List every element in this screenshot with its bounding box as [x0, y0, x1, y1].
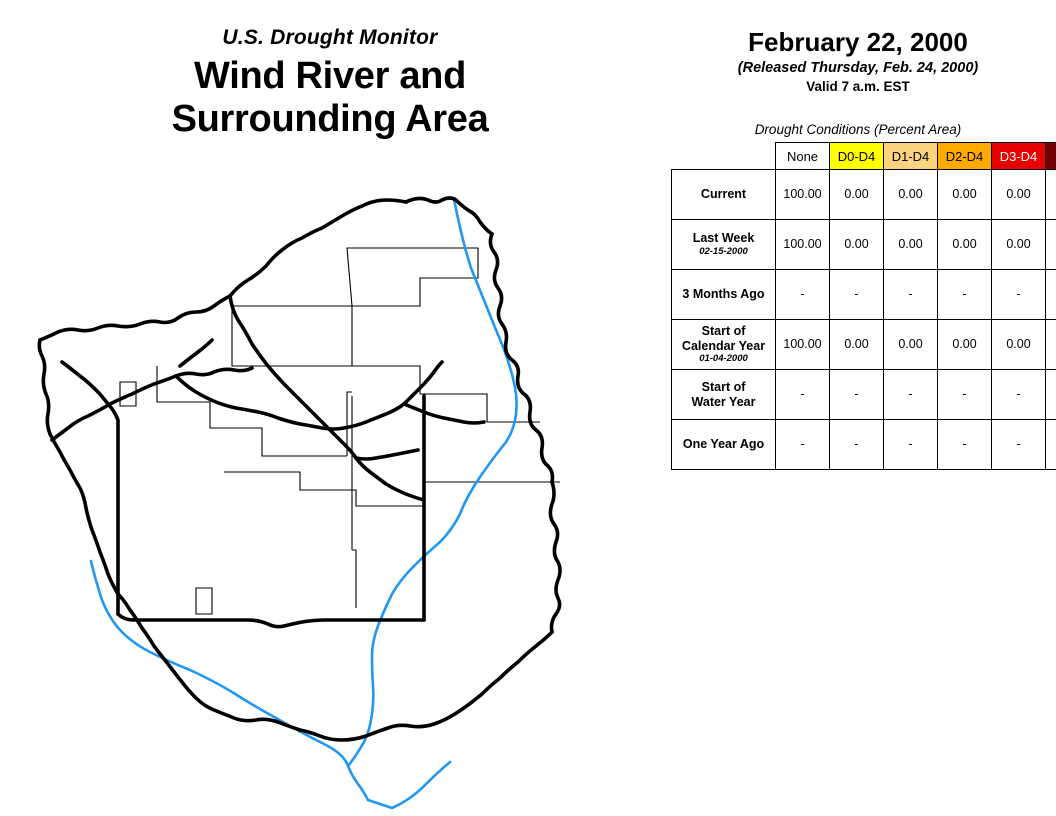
- cell-wy-d2d4: -: [938, 370, 992, 420]
- row-label-text: 3 Months Ago: [682, 287, 764, 301]
- cell-caly-d0d4: 0.00: [830, 320, 884, 370]
- cell-3mo-d4: -: [1046, 270, 1056, 320]
- drought-conditions-table: None D0-D4 D1-D4 D2-D4 D3-D4 D4 Current …: [671, 142, 1056, 470]
- release-date: (Released Thursday, Feb. 24, 2000): [660, 60, 1056, 76]
- page-title-line1: Wind River and: [0, 55, 660, 98]
- col-header-d0d4: D0-D4: [830, 143, 884, 170]
- map-background: [0, 170, 660, 816]
- cell-lastweek-d1d4: 0.00: [884, 220, 938, 270]
- row-label-text-l2: Calendar Year: [682, 339, 765, 353]
- row-label-date: 01-04-2000: [675, 354, 772, 365]
- valid-date: February 22, 2000: [660, 28, 1056, 57]
- cell-wy-d1d4: -: [884, 370, 938, 420]
- date-block: February 22, 2000 (Released Thursday, Fe…: [660, 28, 1056, 94]
- row-label-text-l1: Start of: [702, 380, 746, 394]
- cell-wy-none: -: [776, 370, 830, 420]
- row-label-current: Current: [672, 170, 776, 220]
- table-caption: Drought Conditions (Percent Area): [660, 122, 1056, 137]
- cell-wy-d0d4: -: [830, 370, 884, 420]
- map-svg: [0, 170, 660, 816]
- info-panel: February 22, 2000 (Released Thursday, Fe…: [660, 0, 1056, 816]
- cell-1yr-d3d4: -: [992, 420, 1046, 470]
- col-header-d2d4: D2-D4: [938, 143, 992, 170]
- cell-lastweek-d0d4: 0.00: [830, 220, 884, 270]
- table-row: Last Week 02-15-2000 100.00 0.00 0.00 0.…: [672, 220, 1056, 270]
- table-row: 3 Months Ago - - - - - -: [672, 270, 1056, 320]
- cell-current-d2d4: 0.00: [938, 170, 992, 220]
- col-header-d1d4: D1-D4: [884, 143, 938, 170]
- cell-current-d1d4: 0.00: [884, 170, 938, 220]
- table-row: Start of Calendar Year 01-04-2000 100.00…: [672, 320, 1056, 370]
- row-label-text-l1: Start of: [702, 324, 746, 338]
- col-header-d3d4: D3-D4: [992, 143, 1046, 170]
- cell-lastweek-d3d4: 0.00: [992, 220, 1046, 270]
- table-row: One Year Ago - - - - - -: [672, 420, 1056, 470]
- cell-3mo-none: -: [776, 270, 830, 320]
- cell-1yr-d1d4: -: [884, 420, 938, 470]
- row-label-date: 02-15-2000: [675, 247, 772, 258]
- cell-1yr-d4: -: [1046, 420, 1056, 470]
- row-label-text: One Year Ago: [683, 437, 764, 451]
- map-panel: U.S. Drought Monitor Wind River and Surr…: [0, 0, 660, 816]
- cell-caly-d3d4: 0.00: [992, 320, 1046, 370]
- cell-caly-none: 100.00: [776, 320, 830, 370]
- cell-current-d3d4: 0.00: [992, 170, 1046, 220]
- cell-3mo-d2d4: -: [938, 270, 992, 320]
- page-title: Wind River and Surrounding Area: [0, 55, 660, 140]
- cell-3mo-d3d4: -: [992, 270, 1046, 320]
- title-block: U.S. Drought Monitor Wind River and Surr…: [0, 26, 660, 140]
- col-header-none: None: [776, 143, 830, 170]
- drought-map[interactable]: [0, 170, 660, 816]
- cell-1yr-d0d4: -: [830, 420, 884, 470]
- row-label-text-l2: Water Year: [692, 395, 756, 409]
- cell-lastweek-d4: 0.00: [1046, 220, 1056, 270]
- cell-current-d4: 0.00: [1046, 170, 1056, 220]
- cell-1yr-none: -: [776, 420, 830, 470]
- valid-time: Valid 7 a.m. EST: [660, 79, 1056, 94]
- table-body: Current 100.00 0.00 0.00 0.00 0.00 0.00 …: [672, 170, 1056, 470]
- row-label-text: Last Week: [693, 231, 755, 245]
- row-label-3-months-ago: 3 Months Ago: [672, 270, 776, 320]
- row-label-last-week: Last Week 02-15-2000: [672, 220, 776, 270]
- cell-current-none: 100.00: [776, 170, 830, 220]
- page-title-line2: Surrounding Area: [0, 98, 660, 141]
- cell-caly-d4: 0.00: [1046, 320, 1056, 370]
- cell-lastweek-d2d4: 0.00: [938, 220, 992, 270]
- cell-current-d0d4: 0.00: [830, 170, 884, 220]
- cell-caly-d1d4: 0.00: [884, 320, 938, 370]
- col-header-d4: D4: [1046, 143, 1056, 170]
- cell-wy-d3d4: -: [992, 370, 1046, 420]
- row-label-start-water-year: Start of Water Year: [672, 370, 776, 420]
- cell-caly-d2d4: 0.00: [938, 320, 992, 370]
- drought-monitor-eyebrow: U.S. Drought Monitor: [0, 26, 660, 49]
- row-label-text: Current: [701, 187, 746, 201]
- drought-conditions-table-wrap: None D0-D4 D1-D4 D2-D4 D3-D4 D4 Current …: [671, 142, 1045, 470]
- table-corner-cell: [672, 143, 776, 170]
- cell-wy-d4: -: [1046, 370, 1056, 420]
- cell-3mo-d0d4: -: [830, 270, 884, 320]
- table-row: Start of Water Year - - - - - -: [672, 370, 1056, 420]
- cell-1yr-d2d4: -: [938, 420, 992, 470]
- table-row: Current 100.00 0.00 0.00 0.00 0.00 0.00: [672, 170, 1056, 220]
- table-header-row: None D0-D4 D1-D4 D2-D4 D3-D4 D4: [672, 143, 1056, 170]
- row-label-start-calendar-year: Start of Calendar Year 01-04-2000: [672, 320, 776, 370]
- cell-lastweek-none: 100.00: [776, 220, 830, 270]
- row-label-one-year-ago: One Year Ago: [672, 420, 776, 470]
- cell-3mo-d1d4: -: [884, 270, 938, 320]
